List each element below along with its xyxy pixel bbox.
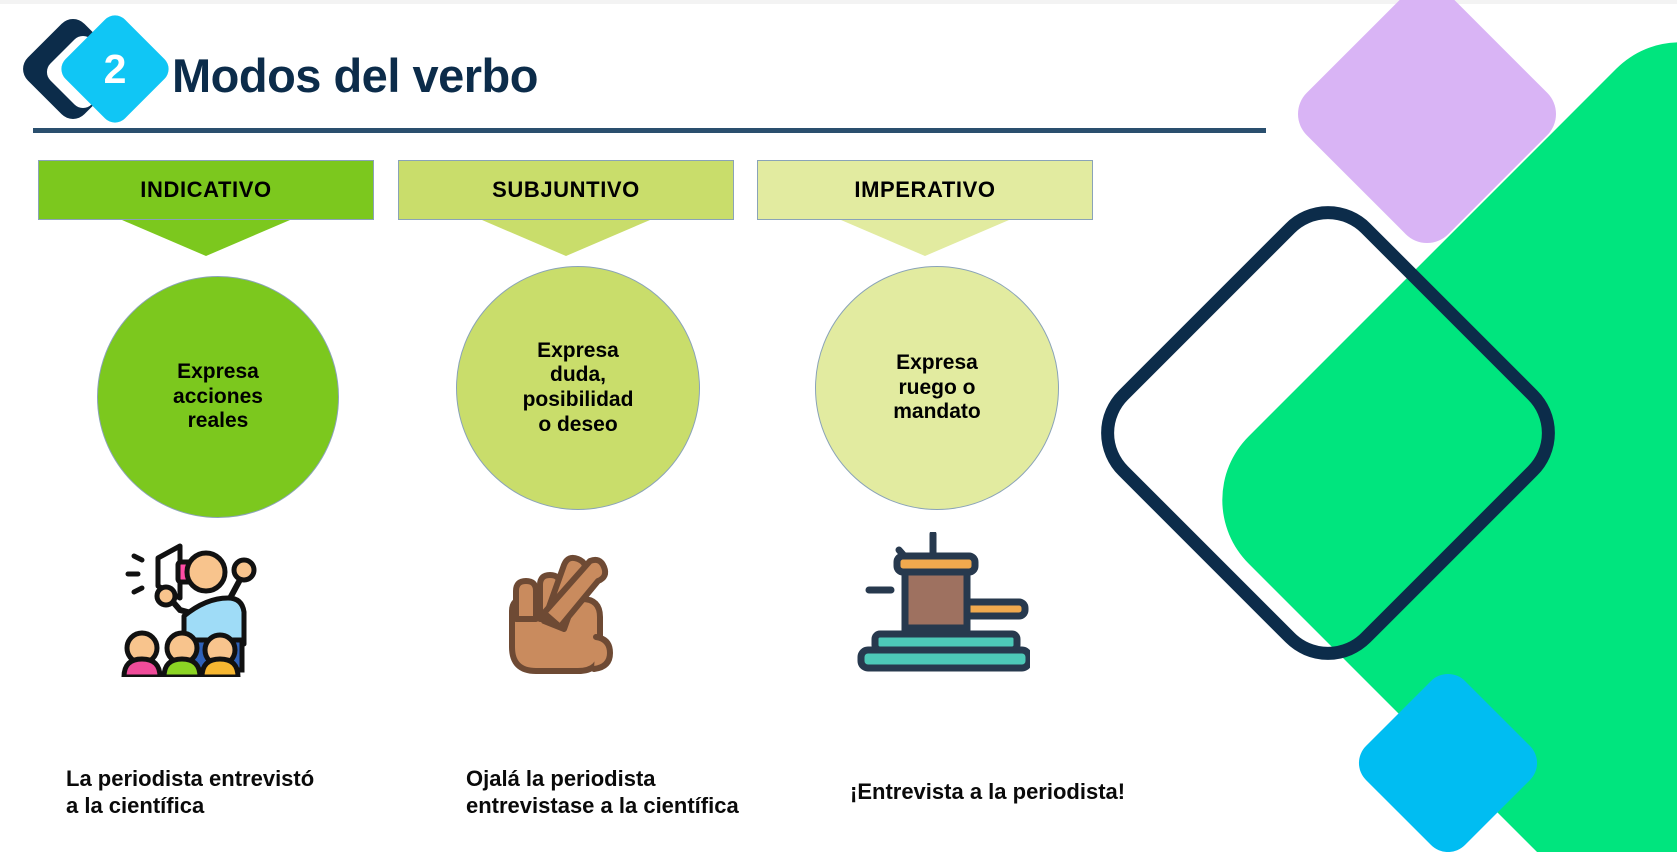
mode-circle-indicativo[interactable]: Expresa acciones reales [97, 276, 339, 518]
mode-header-bar-subjuntivo[interactable]: SUBJUNTIVO [398, 160, 734, 220]
gavel-icon [855, 532, 1030, 677]
mode-column-indicativo: INDICATIVO Expresa acciones reales [38, 160, 398, 518]
slide-header: 2 Modos del verbo [0, 0, 1280, 140]
crossed-fingers-icon [502, 545, 617, 675]
mode-header-bar-indicativo[interactable]: INDICATIVO [38, 160, 374, 220]
down-arrow-imperativo [841, 220, 1009, 256]
example-caption-indicativo: La periodista entrevistó a la científica [66, 765, 396, 819]
mode-circle-text: Expresa duda, posibilidad o deseo [513, 339, 644, 437]
mode-circle-imperativo[interactable]: Expresa ruego o mandato [815, 266, 1059, 510]
mode-column-imperativo: IMPERATIVO Expresa ruego o mandato [757, 160, 1117, 510]
mode-circle-subjuntivo[interactable]: Expresa duda, posibilidad o deseo [456, 266, 700, 510]
mode-header-label: IMPERATIVO [854, 177, 995, 203]
slide-canvas: 2 Modos del verbo INDICATIVO Expresa acc… [0, 0, 1677, 852]
title-divider [33, 128, 1266, 133]
mode-header-label: INDICATIVO [140, 177, 271, 203]
mode-circle-text: Expresa ruego o mandato [883, 351, 991, 425]
example-caption-subjuntivo: Ojalá la periodista entrevistase a la ci… [466, 765, 806, 819]
badge-number-label: 2 [73, 27, 157, 111]
section-number-badge: 2 [33, 18, 163, 122]
down-arrow-indicativo [122, 220, 290, 256]
mode-header-bar-imperativo[interactable]: IMPERATIVO [757, 160, 1093, 220]
page-title: Modos del verbo [172, 48, 538, 103]
megaphone-crowd-icon [120, 532, 260, 677]
mode-column-subjuntivo: SUBJUNTIVO Expresa duda, posibilidad o d… [398, 160, 758, 510]
down-arrow-subjuntivo [482, 220, 650, 256]
mode-circle-text: Expresa acciones reales [163, 360, 273, 434]
mode-header-label: SUBJUNTIVO [492, 177, 640, 203]
example-caption-imperativo: ¡Entrevista a la periodista! [850, 778, 1190, 805]
